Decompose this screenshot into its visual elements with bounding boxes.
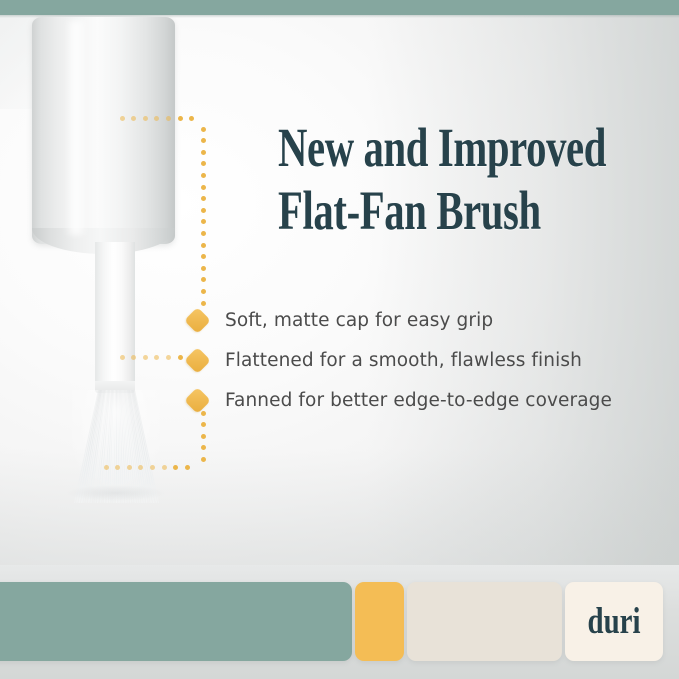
diamond-bullet-icon [184,307,211,334]
headline-line-1: New and Improved [278,118,567,178]
promo-graphic: New and Improved Flat-Fan Brush Soft, ma… [0,0,679,679]
connector-dot [115,465,120,470]
connector-dot [173,465,178,470]
list-item: Soft, matte cap for easy grip [188,300,658,340]
beige-swatch [407,582,562,661]
connector-dot [162,465,167,470]
connector-dot [201,422,206,427]
diamond-bullet-icon [184,347,211,374]
feature-list: Soft, matte cap for easy grip Flattened … [188,300,658,420]
list-item: Fanned for better edge-to-edge coverage [188,380,658,420]
connector-dot [201,457,206,462]
connector-dot [201,445,206,450]
list-item: Flattened for a smooth, flawless finish [188,340,658,380]
gold-swatch [355,582,404,661]
connector-dot [127,465,132,470]
diamond-bullet-icon [184,387,211,414]
footer-swatch-bar: duri [0,565,679,679]
teal-swatch [0,582,352,661]
brand-logo: duri [576,582,652,661]
list-item-label: Fanned for better edge-to-edge coverage [225,390,612,411]
connector-dot [150,465,155,470]
connector-dot [104,465,109,470]
connector-dot [185,465,190,470]
connector-dot [201,434,206,439]
page-title: New and Improved Flat-Fan Brush [278,118,567,241]
connector-dot [138,465,143,470]
headline-line-2: Flat-Fan Brush [278,181,567,241]
list-item-label: Flattened for a smooth, flawless finish [225,350,582,371]
list-item-label: Soft, matte cap for easy grip [225,310,493,331]
